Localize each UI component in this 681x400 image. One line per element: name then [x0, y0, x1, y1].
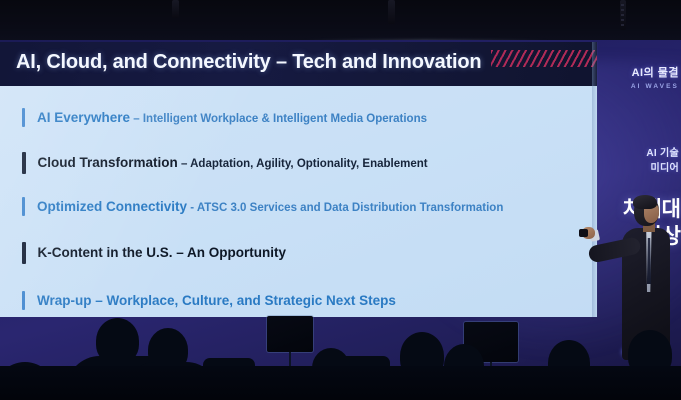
ceiling-light-icon — [388, 0, 395, 24]
bullet-5-text: Wrap-up – Workplace, Culture, and Strate… — [37, 292, 396, 310]
bullet-2-rest: – Adaptation, Agility, Optionality, Enab… — [178, 158, 428, 170]
presentation-scene: AI의 물결 AI WAVES AI 기술 미디어 차세대 위상 방송통신위원회… — [0, 0, 681, 400]
presenter — [586, 196, 681, 386]
bullet-4-lead: K-Content in the U.S. – An Opportunity — [38, 245, 286, 260]
slide-bullet-1: AI Everywhere – Intelligent Workplace & … — [22, 108, 427, 127]
bullet-bar-icon — [22, 242, 26, 264]
ceiling-light-icon — [172, 0, 179, 18]
bullet-bar-icon — [22, 291, 25, 310]
presenter-clicker-icon — [579, 229, 588, 237]
backdrop-headline-ko: AI의 물결 — [589, 64, 679, 80]
hatch-stripes-decoration — [491, 50, 597, 67]
bullet-2-lead: Cloud Transformation — [38, 155, 178, 170]
backdrop-headline-en: AI WAVES — [589, 83, 679, 90]
bullet-4-text: K-Content in the U.S. – An Opportunity — [38, 244, 286, 262]
bullet-2-text: Cloud Transformation – Adaptation, Agili… — [38, 154, 428, 172]
slide-title-bar: AI, Cloud, and Connectivity – Tech and I… — [0, 42, 597, 86]
bullet-3-text: Optimized Connectivity - ATSC 3.0 Servic… — [37, 198, 503, 216]
bullet-1-lead: AI Everywhere — [37, 110, 130, 125]
presenter-hair — [633, 195, 657, 209]
bullet-5-lead: Wrap-up – Workplace, Culture, and Strate… — [37, 293, 396, 308]
backdrop-headline-group: AI의 물결 AI WAVES — [589, 64, 679, 90]
slide-bullet-3: Optimized Connectivity - ATSC 3.0 Servic… — [22, 197, 503, 216]
backdrop-subline-group: AI 기술 미디어 — [589, 146, 679, 176]
bullet-bar-icon — [22, 108, 25, 127]
slide-body: AI Everywhere – Intelligent Workplace & … — [0, 86, 597, 317]
slide-bullet-2: Cloud Transformation – Adaptation, Agili… — [22, 152, 428, 174]
backdrop-subline-2: 미디어 — [589, 161, 679, 176]
slide-bullet-4: K-Content in the U.S. – An Opportunity — [22, 242, 286, 264]
bullet-bar-icon — [22, 152, 26, 174]
projected-slide: AI, Cloud, and Connectivity – Tech and I… — [0, 42, 597, 317]
backdrop-subline-1: AI 기술 — [589, 146, 679, 161]
slide-title: AI, Cloud, and Connectivity – Tech and I… — [16, 51, 481, 74]
bullet-1-text: AI Everywhere – Intelligent Workplace & … — [37, 109, 427, 127]
bullet-3-rest: - ATSC 3.0 Services and Data Distributio… — [187, 202, 503, 214]
bullet-1-rest: – Intelligent Workplace & Intelligent Me… — [130, 113, 427, 125]
ceiling-light-icon — [620, 0, 626, 30]
bullet-bar-icon — [22, 197, 25, 216]
slide-bullet-5: Wrap-up – Workplace, Culture, and Strate… — [22, 291, 396, 310]
bullet-3-lead: Optimized Connectivity — [37, 199, 187, 214]
